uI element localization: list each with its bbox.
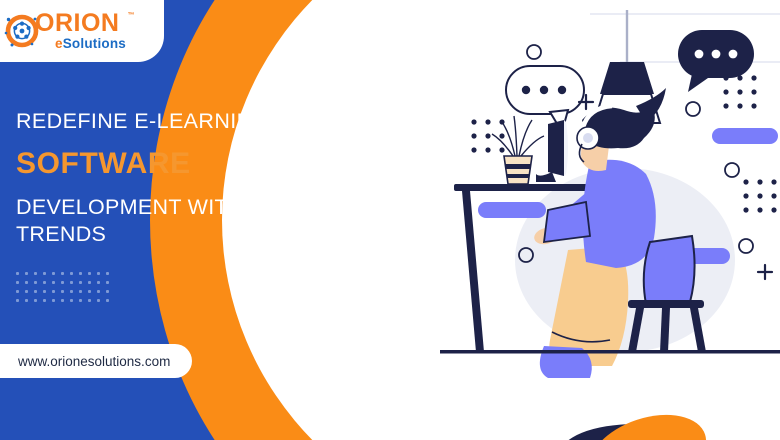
- decor-dot: [97, 272, 100, 275]
- logo-tagline: eSolutions: [55, 37, 126, 51]
- decor-dot: [61, 290, 64, 293]
- trademark-symbol: ™: [128, 12, 136, 19]
- decor-dot-grid: [723, 75, 756, 108]
- decor-dot: [106, 299, 109, 302]
- decor-dot: [79, 299, 82, 302]
- decor-dot: [34, 272, 37, 275]
- marketing-banner: ORION™ eSolutions REDEFINE E-LEARNING SO…: [0, 0, 780, 440]
- decor-dot: [43, 281, 46, 284]
- decor-dot: [25, 290, 28, 293]
- headline-line-1: REDEFINE E-LEARNING: [16, 108, 346, 135]
- logo-name: ORION™: [35, 11, 126, 36]
- decor-dot: [106, 272, 109, 275]
- decor-dot: [16, 272, 19, 275]
- decorative-dot-grid: [16, 272, 115, 308]
- decor-dot: [25, 299, 28, 302]
- woman-at-desk-illustration: [440, 10, 780, 430]
- decor-dot-grid: [471, 119, 504, 152]
- decor-dot: [88, 272, 91, 275]
- decor-dot: [79, 290, 82, 293]
- decor-dot: [106, 290, 109, 293]
- headline-line-2-highlight: SOFTWARE: [16, 147, 346, 180]
- decor-dot: [52, 290, 55, 293]
- decor-pill: [712, 128, 778, 144]
- decor-dot: [34, 281, 37, 284]
- decor-dot: [43, 272, 46, 275]
- decor-dot: [52, 272, 55, 275]
- decor-dot: [70, 299, 73, 302]
- decor-dot: [88, 281, 91, 284]
- decor-dot: [61, 272, 64, 275]
- decor-dot-grid: [743, 179, 776, 212]
- website-url-pill[interactable]: www.orionesolutions.com: [0, 344, 192, 378]
- decor-dot: [97, 290, 100, 293]
- decor-dot: [61, 281, 64, 284]
- decor-dot: [70, 281, 73, 284]
- decor-dot: [79, 281, 82, 284]
- decor-dot: [106, 281, 109, 284]
- headline-line-3: DEVELOPMENT WITH THESE 3 TRENDS: [16, 194, 346, 249]
- chat-bubble-outline: [506, 66, 584, 132]
- decor-dot: [43, 290, 46, 293]
- decor-dot: [88, 299, 91, 302]
- decor-dot: [34, 290, 37, 293]
- decor-dot: [52, 299, 55, 302]
- desktop-monitor: [536, 120, 568, 182]
- decor-dot: [88, 290, 91, 293]
- decor-dot: [34, 299, 37, 302]
- decor-dot: [61, 299, 64, 302]
- chat-bubble-filled: [678, 30, 754, 92]
- decor-dot: [43, 299, 46, 302]
- decor-pill: [478, 202, 546, 218]
- decor-dot: [79, 272, 82, 275]
- decor-dot: [16, 290, 19, 293]
- headline-block: REDEFINE E-LEARNING SOFTWARE DEVELOPMENT…: [16, 108, 346, 249]
- decor-dot: [16, 281, 19, 284]
- decor-dot: [25, 272, 28, 275]
- decor-dot: [70, 272, 73, 275]
- decor-dot: [70, 290, 73, 293]
- decor-dot: [97, 281, 100, 284]
- decor-dot: [25, 281, 28, 284]
- logo-wordmark: ORION™ eSolutions: [35, 11, 126, 51]
- decor-dot: [97, 299, 100, 302]
- decor-dot: [16, 299, 19, 302]
- website-url-text: www.orionesolutions.com: [18, 354, 170, 369]
- logo-badge[interactable]: ORION™ eSolutions: [0, 0, 164, 62]
- decor-dot: [52, 281, 55, 284]
